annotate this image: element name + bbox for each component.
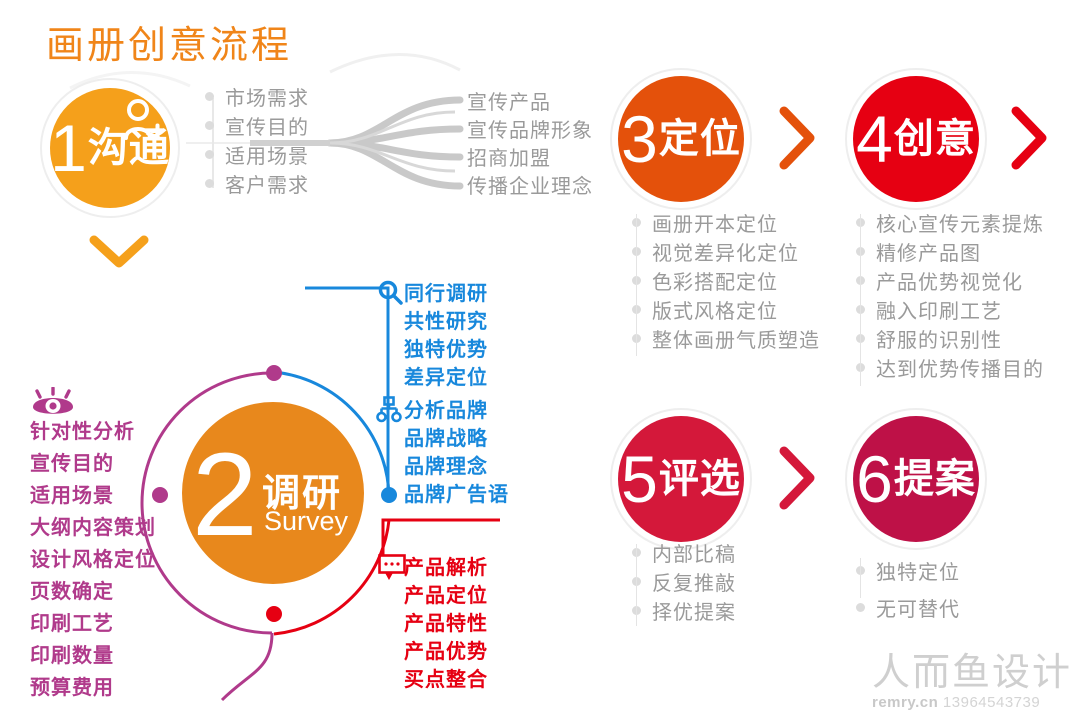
bullet-dot	[205, 92, 214, 101]
list-item[interactable]: 独特优势	[404, 333, 488, 361]
list-item[interactable]: 适用场景	[205, 140, 309, 169]
watermark-logo: 人而鱼设计	[872, 654, 1072, 692]
list-item[interactable]: 页数确定	[30, 582, 156, 614]
list-item-label: 画册开本定位	[652, 208, 778, 237]
branch-item[interactable]: 宣传品牌形象	[467, 114, 593, 142]
list-spine	[636, 544, 637, 626]
list-item-label: 反复推敲	[652, 567, 736, 596]
list-item-label: 整体画册气质塑造	[652, 324, 820, 353]
list-item[interactable]: 核心宣传元素提炼	[856, 208, 1044, 237]
watermark-phone: 13964543739	[943, 694, 1040, 711]
step-1-branch-list: 宣传产品 宣传品牌形象 招商加盟 传播企业理念	[467, 86, 593, 198]
list-item[interactable]: 市场需求	[205, 82, 309, 111]
list-item-label: 市场需求	[225, 82, 309, 111]
step-3-item-list: 画册开本定位 视觉差异化定位 色彩搭配定位 版式风格定位 整体画册气质塑造	[632, 208, 820, 353]
comment-icon	[378, 554, 406, 580]
list-item[interactable]: 融入印刷工艺	[856, 295, 1044, 324]
list-item-label: 舒服的识别性	[876, 324, 1002, 353]
list-item[interactable]: 品牌理念	[404, 450, 509, 478]
list-item[interactable]: 无可替代	[856, 589, 960, 626]
step-2-badge[interactable]: 2 调研 Survey	[182, 402, 364, 584]
list-spine	[860, 558, 861, 598]
step-4-badge[interactable]: 4 创意	[845, 68, 987, 210]
list-item[interactable]: 适用场景	[30, 486, 156, 518]
step-5-label: 5 评选	[610, 408, 752, 550]
list-item-label: 视觉差异化定位	[652, 237, 799, 266]
list-item[interactable]: 产品解析	[404, 551, 488, 579]
list-item[interactable]: 共性研究	[404, 305, 488, 333]
list-item[interactable]: 视觉差异化定位	[632, 237, 820, 266]
list-item-label: 核心宣传元素提炼	[876, 208, 1044, 237]
step-3-number: 3	[621, 106, 658, 172]
list-item[interactable]: 分析品牌	[404, 394, 509, 422]
watermark: 人而鱼设计 remry.cn 13964543739	[872, 654, 1072, 711]
list-item[interactable]: 针对性分析	[30, 422, 156, 454]
list-item[interactable]: 印刷工艺	[30, 614, 156, 646]
step-3-badge[interactable]: 3 定位	[610, 68, 752, 210]
step-5-number: 5	[621, 446, 658, 512]
chevron-right-icon	[776, 105, 820, 171]
list-item-label: 择优提案	[652, 596, 736, 625]
page-title: 画册创意流程	[46, 14, 292, 69]
step-4-number: 4	[856, 106, 893, 172]
step-3-label: 3 定位	[610, 68, 752, 210]
list-item[interactable]: 印刷数量	[30, 646, 156, 678]
list-item-label: 独特定位	[876, 556, 960, 585]
list-item-label: 色彩搭配定位	[652, 266, 778, 295]
eye-icon	[30, 387, 76, 419]
step-1-number: 1	[50, 115, 87, 181]
list-item[interactable]: 品牌广告语	[404, 478, 509, 506]
bullet-dot	[205, 150, 214, 159]
list-item[interactable]: 品牌战略	[404, 422, 509, 450]
hierarchy-icon	[376, 396, 404, 424]
list-item[interactable]: 客户需求	[205, 169, 309, 198]
branch-item[interactable]: 招商加盟	[467, 142, 593, 170]
step-1-badge[interactable]: 1 沟通	[40, 78, 180, 218]
list-item[interactable]: 舒服的识别性	[856, 324, 1044, 353]
step-6-name: 提案	[894, 459, 976, 499]
list-item-label: 达到优势传播目的	[876, 353, 1044, 382]
list-item-label: 版式风格定位	[652, 295, 778, 324]
list-item[interactable]: 画册开本定位	[632, 208, 820, 237]
list-item-label: 无可替代	[876, 593, 960, 622]
brand-group-list: 分析品牌 品牌战略 品牌理念 品牌广告语	[404, 394, 509, 506]
list-item[interactable]: 产品定位	[404, 579, 488, 607]
chevron-down-icon	[88, 232, 150, 272]
step-5-name: 评选	[659, 459, 741, 499]
infographic-canvas: 画册创意流程 1 沟通 市场需求 宣传目的 适用场景 客户需求	[0, 0, 1080, 719]
step-4-item-list: 核心宣传元素提炼 精修产品图 产品优势视觉化 融入印刷工艺 舒服的识别性 达到优…	[856, 208, 1044, 382]
step-3-name: 定位	[659, 119, 741, 159]
list-item[interactable]: 产品特性	[404, 607, 488, 635]
list-item[interactable]: 内部比稿	[632, 538, 736, 567]
list-item[interactable]: 买点整合	[404, 663, 488, 691]
analysis-group-list: 针对性分析 宣传目的 适用场景 大纲内容策划 设计风格定位 页数确定 印刷工艺 …	[30, 422, 156, 710]
step-5-badge[interactable]: 5 评选	[610, 408, 752, 550]
list-item-label: 客户需求	[225, 169, 309, 198]
step-4-label: 4 创意	[845, 68, 987, 210]
list-item[interactable]: 差异定位	[404, 361, 488, 389]
list-item[interactable]: 产品优势视觉化	[856, 266, 1044, 295]
list-item[interactable]: 择优提案	[632, 596, 736, 625]
step-6-label: 6 提案	[845, 408, 987, 550]
list-item[interactable]: 达到优势传播目的	[856, 353, 1044, 382]
list-item-label: 精修产品图	[876, 237, 981, 266]
list-item[interactable]: 设计风格定位	[30, 550, 156, 582]
list-item-label: 宣传目的	[225, 111, 309, 140]
bullet-dot	[205, 121, 214, 130]
list-item[interactable]: 同行调研	[404, 277, 488, 305]
list-item[interactable]: 版式风格定位	[632, 295, 820, 324]
list-item[interactable]: 产品优势	[404, 635, 488, 663]
step-5-item-list: 内部比稿 反复推敲 择优提案	[632, 538, 736, 625]
list-item[interactable]: 整体画册气质塑造	[632, 324, 820, 353]
list-item[interactable]: 大纲内容策划	[30, 518, 156, 550]
step-6-badge[interactable]: 6 提案	[845, 408, 987, 550]
bullet-dot	[856, 603, 865, 612]
chevron-right-icon	[1008, 105, 1052, 171]
step-6-number: 6	[856, 446, 893, 512]
list-item-label: 产品优势视觉化	[876, 266, 1023, 295]
branch-item[interactable]: 宣传产品	[467, 86, 593, 114]
list-item[interactable]: 独特定位	[856, 552, 960, 589]
list-spine	[636, 214, 637, 356]
list-item[interactable]: 精修产品图	[856, 237, 1044, 266]
step-2-subname: Survey	[264, 506, 348, 537]
watermark-site: remry.cn	[872, 694, 938, 711]
bullet-dot	[205, 179, 214, 188]
step-1-item-list: 市场需求 宣传目的 适用场景 客户需求	[205, 82, 309, 198]
chevron-right-icon	[776, 445, 820, 511]
list-item[interactable]: 反复推敲	[632, 567, 736, 596]
watermark-contact: remry.cn 13964543739	[872, 694, 1072, 711]
person-add-icon	[122, 98, 162, 144]
product-group-list: 产品解析 产品定位 产品特性 产品优势 买点整合	[404, 551, 488, 691]
step-6-item-list: 独特定位 无可替代	[856, 552, 960, 626]
list-item[interactable]: 预算费用	[30, 678, 156, 710]
list-item-label: 适用场景	[225, 140, 309, 169]
branch-item[interactable]: 传播企业理念	[467, 170, 593, 198]
research-group-list: 同行调研 共性研究 独特优势 差异定位	[404, 277, 488, 389]
step-4-name: 创意	[894, 119, 976, 159]
list-item-label: 融入印刷工艺	[876, 295, 1002, 324]
list-item[interactable]: 宣传目的	[30, 454, 156, 486]
step-2-number: 2	[192, 436, 258, 554]
list-item[interactable]: 色彩搭配定位	[632, 266, 820, 295]
list-spine	[860, 214, 861, 386]
list-item[interactable]: 宣传目的	[205, 111, 309, 140]
list-item-label: 内部比稿	[652, 538, 736, 567]
search-icon	[376, 279, 404, 307]
